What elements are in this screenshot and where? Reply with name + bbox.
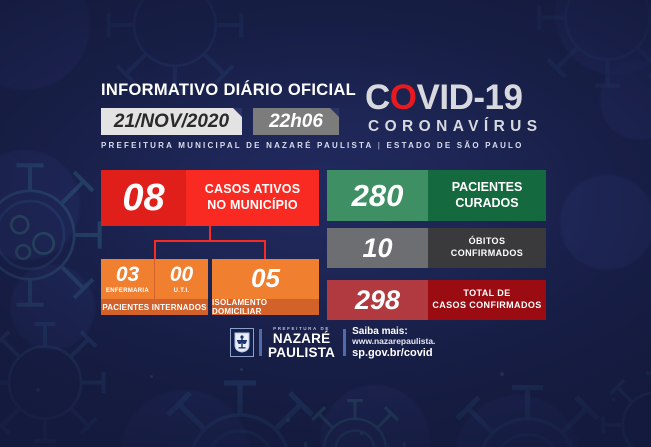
casos-ativos-label: CASOS ATIVOS NO MUNICÍPIO bbox=[186, 170, 319, 226]
stat-card-total-casos-confirmados: 298 TOTAL DE CASOS CONFIRMADOS bbox=[327, 280, 546, 320]
bracket-connector bbox=[101, 226, 319, 259]
shield-crest-icon bbox=[234, 332, 250, 353]
curados-label-line2: CURADOS bbox=[455, 196, 518, 212]
stat-card-isolamento-domiciliar: 05 ISOLAMENTO DOMICILIAR bbox=[212, 259, 319, 315]
brand-line-2: PAULISTA bbox=[268, 346, 335, 360]
covid-logo-wordmark: COVID-19 bbox=[365, 80, 522, 115]
footer-divider bbox=[343, 329, 346, 356]
curados-label-line1: PACIENTES bbox=[452, 180, 523, 196]
casos-ativos-label-line1: CASOS ATIVOS bbox=[205, 182, 300, 198]
website-url-part-2: sp.gov.br/covid bbox=[352, 347, 435, 360]
stat-card-pacientes-internados: 03 ENFERMARIA 00 U.T.I. PACIENTES INTERN… bbox=[101, 259, 208, 315]
date-badge-label: 21/NOV/2020 bbox=[114, 111, 229, 133]
curados-value: 280 bbox=[327, 170, 428, 221]
website-info: Saiba mais: www.nazarepaulista. sp.gov.b… bbox=[352, 326, 435, 360]
casos-ativos-label-line2: NO MUNICÍPIO bbox=[207, 198, 298, 214]
subtitle-bar: PREFEITURA MUNICIPAL DE NAZARÉ PAULISTA … bbox=[101, 141, 524, 150]
footer-bar: PREFEITURA DE NAZARÉ PAULISTA Saiba mais… bbox=[230, 326, 435, 359]
obitos-label-line1: ÓBITOS bbox=[469, 236, 506, 248]
stat-card-pacientes-curados: 280 PACIENTES CURADOS bbox=[327, 170, 546, 221]
isolamento-values-row: 05 bbox=[212, 259, 319, 299]
page-title: INFORMATIVO DIÁRIO OFICIAL bbox=[101, 81, 356, 100]
enfermaria-value: 03 bbox=[116, 264, 139, 286]
badge-fold-corner bbox=[233, 108, 242, 117]
subtitle-separator: | bbox=[378, 141, 382, 150]
subtitle-state: ESTADO DE SÃO PAULO bbox=[387, 141, 524, 150]
covid-logo-o-accent: O bbox=[390, 78, 417, 117]
stat-card-obitos-confirmados: 10 ÓBITOS CONFIRMADOS bbox=[327, 228, 546, 268]
uti-sublabel: U.T.I. bbox=[174, 288, 190, 294]
internados-footer-label: PACIENTES INTERNADOS bbox=[101, 299, 208, 315]
obitos-value: 10 bbox=[327, 228, 428, 268]
casos-ativos-value: 08 bbox=[101, 170, 186, 226]
obitos-label: ÓBITOS CONFIRMADOS bbox=[428, 228, 546, 268]
enfermaria-cell: 03 ENFERMARIA bbox=[101, 259, 154, 299]
covid-logo-rest: VID-19 bbox=[417, 78, 523, 117]
date-badge: 21/NOV/2020 bbox=[101, 108, 242, 135]
total-label-line1: TOTAL DE bbox=[463, 288, 510, 300]
internados-values-row: 03 ENFERMARIA 00 U.T.I. bbox=[101, 259, 208, 299]
subtitle-municipality: PREFEITURA MUNICIPAL DE NAZARÉ PAULISTA bbox=[101, 141, 373, 150]
coat-of-arms-icon bbox=[230, 328, 254, 357]
curados-label: PACIENTES CURADOS bbox=[428, 170, 546, 221]
website-url-part-1: www.nazarepaulista. bbox=[352, 337, 435, 347]
footer-divider bbox=[259, 329, 262, 356]
time-badge-label: 22h06 bbox=[269, 111, 323, 133]
brand-line-1: NAZARÉ bbox=[268, 332, 335, 346]
time-badge: 22h06 bbox=[253, 108, 339, 135]
total-label-line2: CASOS CONFIRMADOS bbox=[432, 300, 541, 312]
isolamento-cell: 05 bbox=[212, 259, 319, 299]
municipality-brand: PREFEITURA DE NAZARÉ PAULISTA bbox=[268, 326, 335, 360]
total-label: TOTAL DE CASOS CONFIRMADOS bbox=[428, 280, 546, 320]
badge-fold-corner bbox=[330, 108, 339, 117]
brand-prefix: PREFEITURA DE bbox=[268, 326, 335, 331]
covid-logo-subtitle: CORONAVÍRUS bbox=[368, 118, 543, 136]
stat-card-casos-ativos: 08 CASOS ATIVOS NO MUNICÍPIO bbox=[101, 170, 319, 226]
obitos-label-line2: CONFIRMADOS bbox=[451, 248, 523, 260]
covid-daily-report-poster: INFORMATIVO DIÁRIO OFICIAL 21/NOV/2020 2… bbox=[0, 0, 651, 447]
covid-logo-c: C bbox=[365, 78, 390, 117]
uti-cell: 00 U.T.I. bbox=[154, 259, 208, 299]
isolamento-footer-label: ISOLAMENTO DOMICILIAR bbox=[212, 299, 319, 315]
enfermaria-sublabel: ENFERMARIA bbox=[106, 288, 149, 294]
total-value: 298 bbox=[327, 280, 428, 320]
isolamento-value: 05 bbox=[251, 265, 280, 292]
uti-value: 00 bbox=[170, 264, 193, 286]
